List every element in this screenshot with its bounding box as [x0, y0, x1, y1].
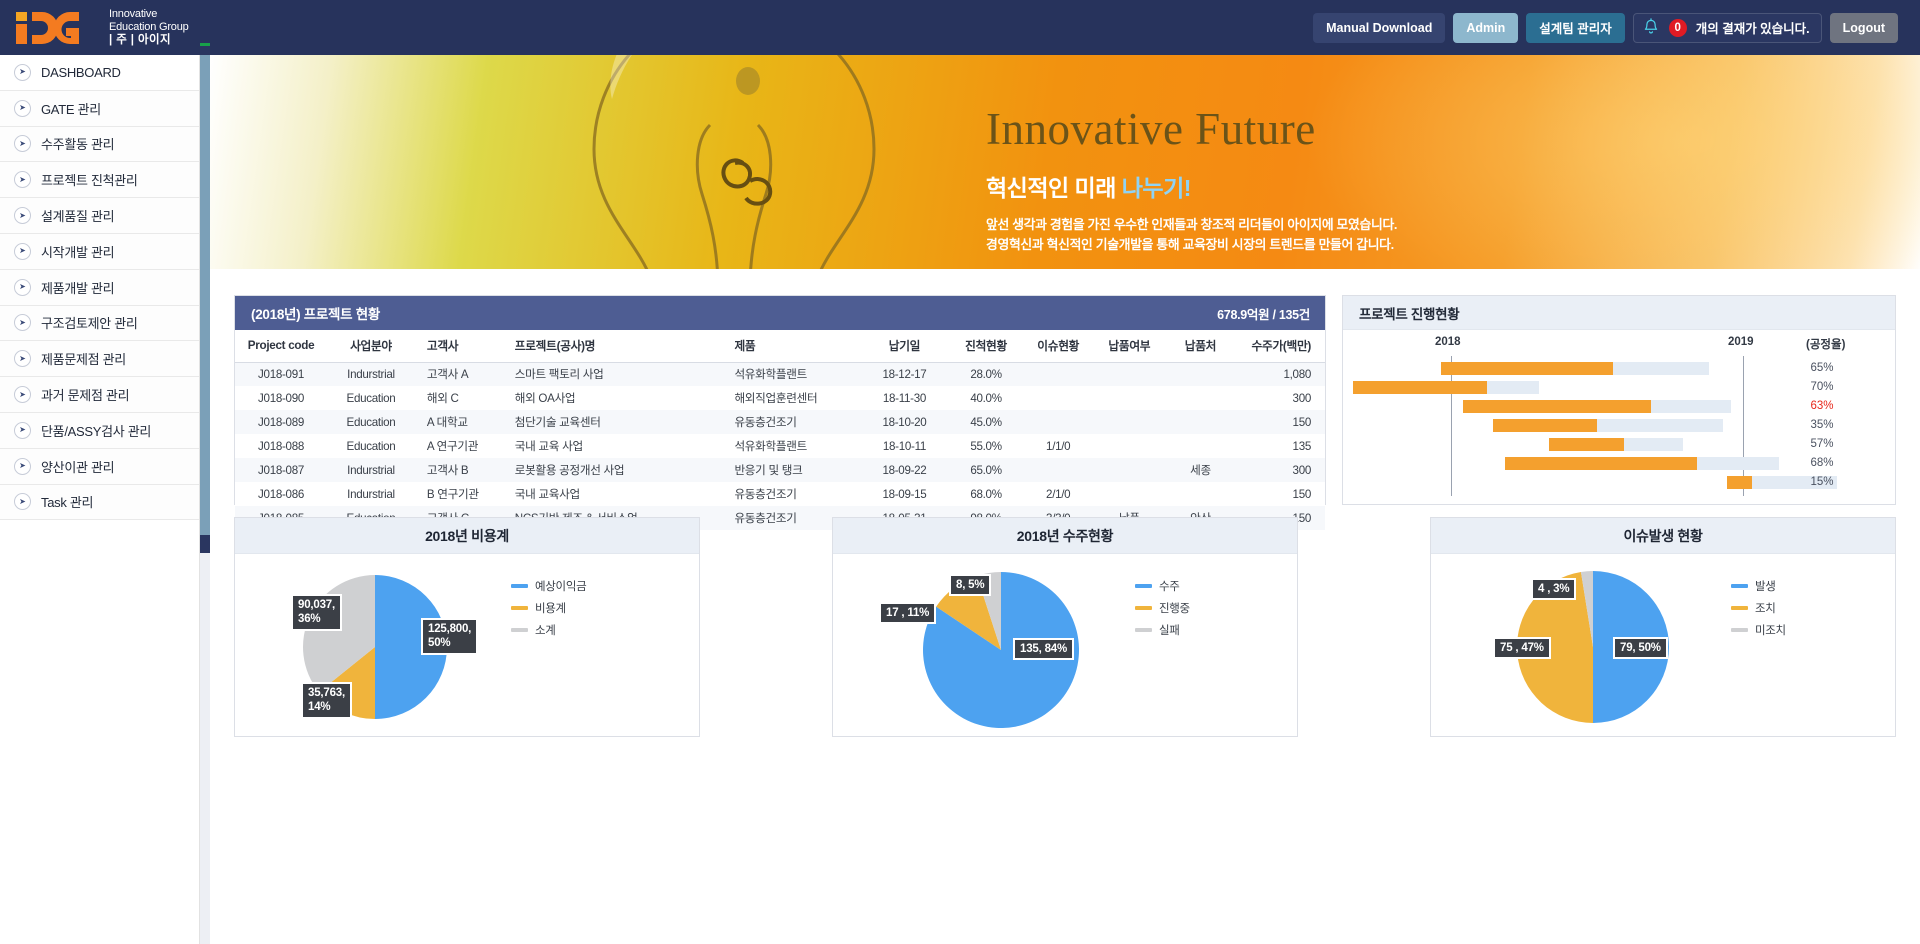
chevron-right-icon: ➤ — [14, 458, 31, 475]
cell-product: 석유화학플랜트 — [722, 362, 860, 386]
cell-delivered — [1093, 482, 1166, 506]
column-header-8: 이슈현황 — [1024, 330, 1093, 362]
cell-price: 300 — [1235, 458, 1325, 482]
column-header-3: 고객사 — [415, 330, 503, 362]
sidebar-item-6[interactable]: ➤시작개발 관리 — [0, 234, 199, 270]
sidebar-item-5[interactable]: ➤설계품질 관리 — [0, 198, 199, 234]
gantt-panel-header: 프로젝트 진행현황 — [1343, 296, 1895, 330]
sidebar-item-label: 제품문제점 관리 — [41, 349, 126, 368]
legend-item-1[interactable]: 수주 — [1135, 578, 1190, 594]
hero-subtitle-main: 혁신적인 미래 — [986, 175, 1122, 201]
gantt-bar-fill — [1505, 457, 1697, 470]
order-chart-card: 2018년 수주현황 135, 84%17 , 11%8, 5%수주진행중실패 — [832, 517, 1298, 737]
cell-field: Indurstrial — [327, 458, 415, 482]
cell-dest — [1166, 482, 1235, 506]
sidebar-item-10[interactable]: ➤과거 문제점 관리 — [0, 377, 199, 413]
column-header-5: 제품 — [722, 330, 860, 362]
legend-item-2[interactable]: 비용계 — [511, 600, 586, 616]
cell-client: 고객사 A — [415, 362, 503, 386]
table-row[interactable]: J018-089EducationA 대학교첨단기술 교육센터유동층건조기18-… — [235, 410, 1325, 434]
pie-data-label-1: 135, 84% — [1013, 638, 1074, 660]
sidebar-item-11[interactable]: ➤단품/ASSY검사 관리 — [0, 413, 199, 449]
cell-due: 18-10-11 — [861, 434, 949, 458]
sidebar-item-8[interactable]: ➤구조검토제안 관리 — [0, 306, 199, 342]
gantt-bar-fill — [1549, 438, 1624, 451]
gantt-axis-label-left: 2018 — [1435, 336, 1461, 348]
lightbulb-illustration-icon — [496, 55, 966, 269]
sidebar-item-label: 시작개발 관리 — [41, 242, 114, 261]
cell-client: A 대학교 — [415, 410, 503, 434]
sidebar-scrollbar-track[interactable] — [200, 55, 210, 944]
cell-price: 135 — [1235, 434, 1325, 458]
cell-issue — [1024, 362, 1093, 386]
cell-delivered — [1093, 386, 1166, 410]
issue-chart-title: 이슈발생 현황 — [1431, 518, 1895, 554]
admin-button[interactable]: Admin — [1453, 13, 1518, 43]
cell-delivered — [1093, 458, 1166, 482]
manual-download-button[interactable]: Manual Download — [1313, 13, 1445, 43]
legend-swatch-icon — [1135, 606, 1152, 610]
cell-due: 18-09-15 — [861, 482, 949, 506]
chevron-right-icon: ➤ — [14, 386, 31, 403]
cell-project: 국내 교육 사업 — [503, 434, 723, 458]
pie-data-label-1: 125,800, 50% — [421, 618, 478, 655]
chevron-right-icon: ➤ — [14, 207, 31, 224]
cell-project: 로봇활용 공정개선 사업 — [503, 458, 723, 482]
cell-project: 국내 교육사업 — [503, 482, 723, 506]
chevron-right-icon: ➤ — [14, 135, 31, 152]
table-row[interactable]: J018-086IndurstrialB 연구기관국내 교육사업유동층건조기18… — [235, 482, 1325, 506]
column-header-9: 납품여부 — [1093, 330, 1166, 362]
legend-item-1[interactable]: 예상이익금 — [511, 578, 586, 594]
column-header-2: 사업분야 — [327, 330, 415, 362]
legend-item-1[interactable]: 발생 — [1731, 578, 1786, 594]
cell-code: J018-088 — [235, 434, 327, 458]
project-table-header-row: Project code사업분야고객사프로젝트(공사)명제품납기일진척현황이슈현… — [235, 330, 1325, 362]
table-row[interactable]: J018-090Education해외 C해외 OA사업해외직업훈련센터18-1… — [235, 386, 1325, 410]
chevron-right-icon: ➤ — [14, 314, 31, 331]
pie-data-label-2: 17 , 11% — [879, 602, 936, 624]
gantt-bar-fill — [1493, 419, 1597, 432]
sidebar-item-label: 제품개발 관리 — [41, 278, 114, 297]
table-row[interactable]: J018-087Indurstrial고객사 B로봇활용 공정개선 사업반응기 … — [235, 458, 1325, 482]
column-header-1: Project code — [235, 330, 327, 362]
cell-progress: 45.0% — [948, 410, 1023, 434]
legend-item-3[interactable]: 소계 — [511, 622, 586, 638]
sidebar-item-label: 과거 문제점 관리 — [41, 385, 129, 404]
gantt-axis-label-right: 2019 — [1728, 336, 1754, 348]
legend-swatch-icon — [1731, 584, 1748, 588]
cell-issue — [1024, 410, 1093, 434]
sidebar-item-7[interactable]: ➤제품개발 관리 — [0, 270, 199, 306]
gantt-bar-fill — [1353, 381, 1487, 394]
chart-legend-2: 수주진행중실패 — [1135, 578, 1190, 638]
cell-delivered — [1093, 362, 1166, 386]
sidebar-item-2[interactable]: ➤GATE 관리 — [0, 91, 199, 127]
pie-data-label-3: 4 , 3% — [1531, 578, 1576, 600]
gantt-bar-fill — [1727, 476, 1752, 489]
hero-desc-line-2: 경영혁신과 혁신적인 기술개발을 통해 교육장비 시장의 트렌드를 만들어 갑니… — [986, 235, 1397, 255]
pie-data-label-1: 79, 50% — [1613, 637, 1668, 659]
cell-price: 1,080 — [1235, 362, 1325, 386]
legend-swatch-icon — [511, 628, 528, 632]
header-actions: Manual Download Admin 설계팀 관리자 0 개의 결재가 있… — [1313, 13, 1920, 43]
cell-field: Education — [327, 434, 415, 458]
column-header-10: 납품처 — [1166, 330, 1235, 362]
legend-item-3[interactable]: 실패 — [1135, 622, 1190, 638]
logo-line-1: Innovative — [109, 8, 189, 20]
cell-delivered — [1093, 410, 1166, 434]
main-content: Innovative Future 혁신적인 미래 나누기! 앞선 생각과 경험… — [210, 55, 1920, 944]
sidebar-item-label: GATE 관리 — [41, 99, 101, 118]
cell-progress: 40.0% — [948, 386, 1023, 410]
cell-dest — [1166, 386, 1235, 410]
notification-text: 개의 결재가 있습니다. — [1696, 18, 1810, 37]
hero-banner: Innovative Future 혁신적인 미래 나누기! 앞선 생각과 경험… — [210, 55, 1920, 269]
cell-price: 150 — [1235, 410, 1325, 434]
scrollbar-green-marker — [200, 43, 210, 46]
gantt-bar-fill — [1463, 400, 1651, 413]
chart-legend-3: 발생조치미조치 — [1731, 578, 1786, 638]
gantt-gridline-2018 — [1451, 356, 1452, 496]
pie-data-label-2: 75 , 47% — [1493, 637, 1551, 659]
cell-due: 18-09-22 — [861, 458, 949, 482]
gantt-bar-fill — [1441, 362, 1613, 375]
sidebar-item-label: 구조검토제안 관리 — [41, 313, 138, 332]
sidebar-item-label: 설계품질 관리 — [41, 206, 114, 225]
legend-label: 예상이익금 — [535, 578, 586, 594]
project-status-panel: (2018년) 프로젝트 현황 678.9억원 / 135건 Project c… — [234, 295, 1326, 505]
hero-text-block: Innovative Future 혁신적인 미래 나누기! 앞선 생각과 경험… — [986, 107, 1397, 255]
idg-logo-icon — [14, 10, 100, 46]
top-header-bar: Innovative Education Group | 주 | 아이지 Man… — [0, 0, 1920, 55]
cost-chart-body: 125,800, 50%35,763, 14%90,037, 36%예상이익금비… — [235, 554, 699, 736]
cell-delivered — [1093, 434, 1166, 458]
issue-chart-card: 이슈발생 현황 79, 50%75 , 47%4 , 3%발생조치미조치 — [1430, 517, 1896, 737]
cell-due: 18-11-30 — [861, 386, 949, 410]
cell-product: 반응기 및 탱크 — [722, 458, 860, 482]
legend-label: 비용계 — [535, 600, 566, 616]
legend-swatch-icon — [1731, 606, 1748, 610]
gantt-rate-label-4: 35% — [1799, 419, 1845, 431]
cell-issue — [1024, 458, 1093, 482]
cell-issue: 1/1/0 — [1024, 434, 1093, 458]
chevron-right-icon: ➤ — [14, 350, 31, 367]
dashboard-row-charts: 2018년 비용계 125,800, 50%35,763, 14%90,037,… — [234, 517, 1896, 737]
cell-client: B 연구기관 — [415, 482, 503, 506]
project-table-body: J018-091Indurstrial고객사 A스마트 팩토리 사업석유화학플랜… — [235, 362, 1325, 530]
legend-swatch-icon — [1135, 628, 1152, 632]
sidebar-item-4[interactable]: ➤프로젝트 진척관리 — [0, 162, 199, 198]
cell-client: A 연구기관 — [415, 434, 503, 458]
logout-button[interactable]: Logout — [1830, 13, 1898, 43]
cell-field: Indurstrial — [327, 482, 415, 506]
cell-code: J018-089 — [235, 410, 327, 434]
gantt-rate-label-6: 68% — [1799, 457, 1845, 469]
gantt-bar-1[interactable] — [1441, 362, 1709, 375]
cell-price: 300 — [1235, 386, 1325, 410]
cost-chart-title: 2018년 비용계 — [235, 518, 699, 554]
legend-label: 수주 — [1159, 578, 1180, 594]
gantt-bar-2[interactable] — [1353, 381, 1539, 394]
cell-code: J018-086 — [235, 482, 327, 506]
cell-due: 18-12-17 — [861, 362, 949, 386]
pie-data-label-3: 90,037, 36% — [291, 594, 342, 631]
legend-item-3[interactable]: 미조치 — [1731, 622, 1786, 638]
legend-label: 미조치 — [1755, 622, 1786, 638]
pie-data-label-3: 8, 5% — [949, 574, 991, 596]
gantt-chart: 2018 2019 (공정율) 65%70%63%35%57%68%15% — [1343, 330, 1895, 504]
table-row[interactable]: J018-088EducationA 연구기관국내 교육 사업석유화학플랜트18… — [235, 434, 1325, 458]
gantt-bar-3[interactable] — [1463, 400, 1731, 413]
hero-title: Innovative Future — [986, 107, 1397, 152]
gantt-bar-4[interactable] — [1493, 419, 1723, 432]
column-header-6: 납기일 — [861, 330, 949, 362]
legend-label: 진행중 — [1159, 600, 1190, 616]
gantt-gridline-2019 — [1743, 356, 1744, 496]
chevron-right-icon: ➤ — [14, 493, 31, 510]
gantt-bar-6[interactable] — [1505, 457, 1779, 470]
dashboard-row-top: (2018년) 프로젝트 현황 678.9억원 / 135건 Project c… — [234, 295, 1896, 505]
sidebar-scrollbar-thumb[interactable] — [200, 55, 210, 535]
cell-field: Indurstrial — [327, 362, 415, 386]
legend-swatch-icon — [511, 606, 528, 610]
cell-progress: 65.0% — [948, 458, 1023, 482]
cell-dest — [1166, 362, 1235, 386]
cell-dest — [1166, 410, 1235, 434]
cell-code: J018-087 — [235, 458, 327, 482]
sidebar-item-1[interactable]: ➤DASHBOARD — [0, 55, 199, 91]
cell-project: 해외 OA사업 — [503, 386, 723, 410]
cell-progress: 68.0% — [948, 482, 1023, 506]
cell-product: 해외직업훈련센터 — [722, 386, 860, 410]
hero-subtitle: 혁신적인 미래 나누기! — [986, 169, 1397, 203]
gantt-panel-title: 프로젝트 진행현황 — [1359, 303, 1459, 323]
sidebar-item-12[interactable]: ➤양산이관 관리 — [0, 449, 199, 485]
chevron-right-icon: ➤ — [14, 171, 31, 188]
chart-legend-1: 예상이익금비용계소계 — [511, 578, 586, 638]
project-panel-header: (2018년) 프로젝트 현황 678.9억원 / 135건 — [235, 296, 1325, 330]
cell-issue — [1024, 386, 1093, 410]
sidebar-item-3[interactable]: ➤수주활동 관리 — [0, 127, 199, 163]
logo-line-3: | 주 | 아이지 — [109, 34, 189, 47]
sidebar-nav: ➤DASHBOARD➤GATE 관리➤수주활동 관리➤프로젝트 진척관리➤설계품… — [0, 55, 200, 944]
order-chart-body: 135, 84%17 , 11%8, 5%수주진행중실패 — [833, 554, 1297, 736]
column-header-7: 진척현황 — [948, 330, 1023, 362]
sidebar-item-label: 프로젝트 진척관리 — [41, 170, 138, 189]
design-team-admin-button[interactable]: 설계팀 관리자 — [1526, 13, 1624, 43]
order-chart-title: 2018년 수주현황 — [833, 518, 1297, 554]
sidebar-item-label: DASHBOARD — [41, 65, 121, 80]
cell-project: 스마트 팩토리 사업 — [503, 362, 723, 386]
cell-field: Education — [327, 386, 415, 410]
notification-count-badge: 0 — [1669, 19, 1687, 37]
brand-logo[interactable]: Innovative Education Group | 주 | 아이지 — [0, 0, 210, 55]
hero-desc-line-1: 앞선 생각과 경험을 가진 우수한 인재들과 창조적 리더들이 아이지에 모였습… — [986, 215, 1397, 235]
gantt-rate-header: (공정율) — [1806, 336, 1845, 352]
gantt-rate-label-3: 63% — [1799, 400, 1845, 412]
column-header-11: 수주가(백만) — [1235, 330, 1325, 362]
cell-progress: 55.0% — [948, 434, 1023, 458]
sidebar-item-label: 수주활동 관리 — [41, 134, 114, 153]
sidebar-item-9[interactable]: ➤제품문제점 관리 — [0, 341, 199, 377]
cell-product: 유동층건조기 — [722, 410, 860, 434]
chevron-right-icon: ➤ — [14, 279, 31, 296]
cell-dest — [1166, 434, 1235, 458]
cell-client: 고객사 B — [415, 458, 503, 482]
gantt-rate-label-7: 15% — [1799, 476, 1845, 488]
bell-icon[interactable] — [1642, 18, 1660, 37]
chevron-right-icon: ➤ — [14, 100, 31, 117]
chevron-right-icon: ➤ — [14, 422, 31, 439]
chevron-right-icon: ➤ — [14, 243, 31, 260]
gantt-bar-5[interactable] — [1549, 438, 1683, 451]
sidebar-item-13[interactable]: ➤Task 관리 — [0, 485, 199, 521]
gantt-rate-label-5: 57% — [1799, 438, 1845, 450]
hero-subtitle-highlight: 나누기! — [1122, 175, 1191, 201]
cell-price: 150 — [1235, 482, 1325, 506]
cell-client: 해외 C — [415, 386, 503, 410]
sidebar-item-label: 양산이관 관리 — [41, 457, 114, 476]
legend-item-2[interactable]: 조치 — [1731, 600, 1786, 616]
cell-due: 18-10-20 — [861, 410, 949, 434]
legend-item-2[interactable]: 진행중 — [1135, 600, 1190, 616]
column-header-4: 프로젝트(공사)명 — [503, 330, 723, 362]
legend-label: 발생 — [1755, 578, 1776, 594]
legend-swatch-icon — [511, 584, 528, 588]
hero-description: 앞선 생각과 경험을 가진 우수한 인재들과 창조적 리더들이 아이지에 모였습… — [986, 215, 1397, 255]
project-total-amount: 678.9억원 / 135건 — [1217, 304, 1310, 323]
notification-area[interactable]: 0 개의 결재가 있습니다. — [1633, 13, 1822, 43]
legend-label: 소계 — [535, 622, 556, 638]
cell-progress: 28.0% — [948, 362, 1023, 386]
project-panel-title: (2018년) 프로젝트 현황 — [251, 303, 380, 323]
legend-label: 실패 — [1159, 622, 1180, 638]
cost-chart-card: 2018년 비용계 125,800, 50%35,763, 14%90,037,… — [234, 517, 700, 737]
legend-label: 조치 — [1755, 600, 1776, 616]
gantt-rate-label-1: 65% — [1799, 362, 1845, 374]
project-progress-panel: 프로젝트 진행현황 2018 2019 (공정율) 65%70%63%35%57… — [1342, 295, 1896, 505]
gantt-axis: 2018 2019 (공정율) — [1343, 330, 1895, 356]
cell-product: 유동층건조기 — [722, 482, 860, 506]
project-table: Project code사업분야고객사프로젝트(공사)명제품납기일진척현황이슈현… — [235, 330, 1325, 530]
legend-swatch-icon — [1135, 584, 1152, 588]
cell-field: Education — [327, 410, 415, 434]
cell-issue: 2/1/0 — [1024, 482, 1093, 506]
cell-product: 석유화학플랜트 — [722, 434, 860, 458]
cell-dest: 세종 — [1166, 458, 1235, 482]
cell-project: 첨단기술 교육센터 — [503, 410, 723, 434]
issue-chart-body: 79, 50%75 , 47%4 , 3%발생조치미조치 — [1431, 554, 1895, 736]
sidebar-item-label: 단품/ASSY검사 관리 — [41, 421, 151, 440]
logo-line-2: Education Group — [109, 21, 189, 33]
chevron-right-icon: ➤ — [14, 64, 31, 81]
legend-swatch-icon — [1731, 628, 1748, 632]
table-row[interactable]: J018-091Indurstrial고객사 A스마트 팩토리 사업석유화학플랜… — [235, 362, 1325, 386]
gantt-rate-label-2: 70% — [1799, 381, 1845, 393]
cell-code: J018-090 — [235, 386, 327, 410]
cell-code: J018-091 — [235, 362, 327, 386]
pie-data-label-2: 35,763, 14% — [301, 682, 352, 719]
sidebar-item-label: Task 관리 — [41, 492, 93, 511]
